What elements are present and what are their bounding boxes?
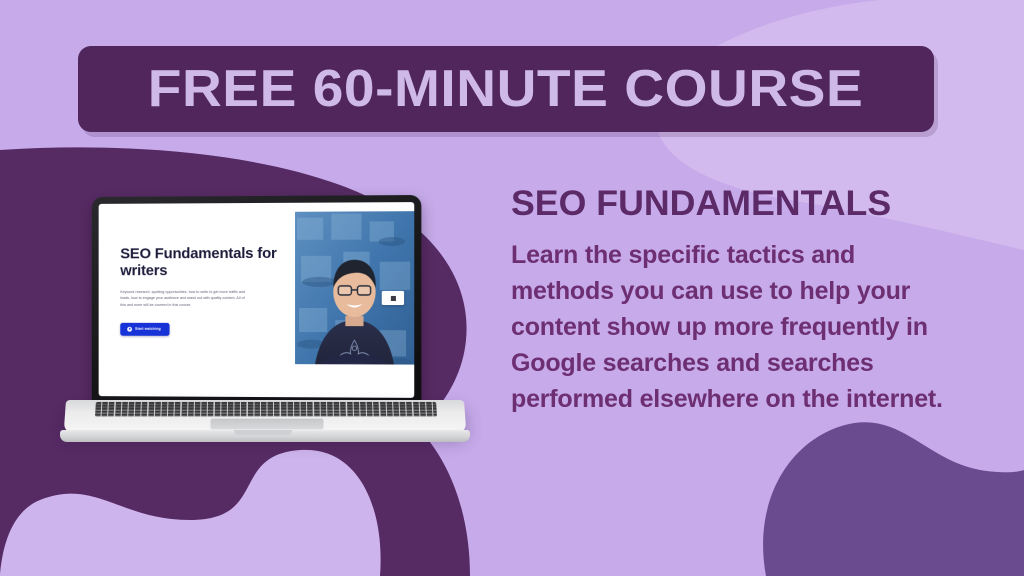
start-watching-button[interactable]: Start watching xyxy=(120,323,169,336)
banner-title: FREE 60-MINUTE COURSE xyxy=(148,63,864,115)
screen-paragraph: Keyword research, spotting opportunities… xyxy=(120,289,247,309)
laptop-lid: SEO Fundamentals for writers Keyword res… xyxy=(92,195,422,407)
laptop-deck xyxy=(64,400,467,433)
banner: FREE 60-MINUTE COURSE xyxy=(78,46,934,132)
screen-content-left: SEO Fundamentals for writers Keyword res… xyxy=(99,203,295,397)
screen-title: SEO Fundamentals for writers xyxy=(120,245,295,280)
badge-square-icon xyxy=(390,295,395,300)
laptop-mockup: SEO Fundamentals for writers Keyword res… xyxy=(58,196,473,466)
page-title: SEO FUNDAMENTALS xyxy=(511,186,970,223)
laptop-base xyxy=(58,400,473,448)
instructor-photo xyxy=(295,211,414,364)
screen-video-panel[interactable] xyxy=(295,211,414,364)
laptop-keyboard xyxy=(95,402,437,417)
laptop-front-notch xyxy=(234,430,292,435)
video-badge-icon[interactable] xyxy=(382,291,404,305)
laptop-screen: SEO Fundamentals for writers Keyword res… xyxy=(99,202,415,398)
copy-body: Learn the specific tactics and methods y… xyxy=(511,237,961,417)
copy-block: SEO FUNDAMENTALS Learn the specific tact… xyxy=(511,186,961,417)
start-watching-label: Start watching xyxy=(135,327,161,331)
laptop-trackpad xyxy=(210,419,323,430)
promo-graphic: FREE 60-MINUTE COURSE SEO Fundamentals f… xyxy=(0,0,1024,576)
play-icon xyxy=(127,327,132,332)
